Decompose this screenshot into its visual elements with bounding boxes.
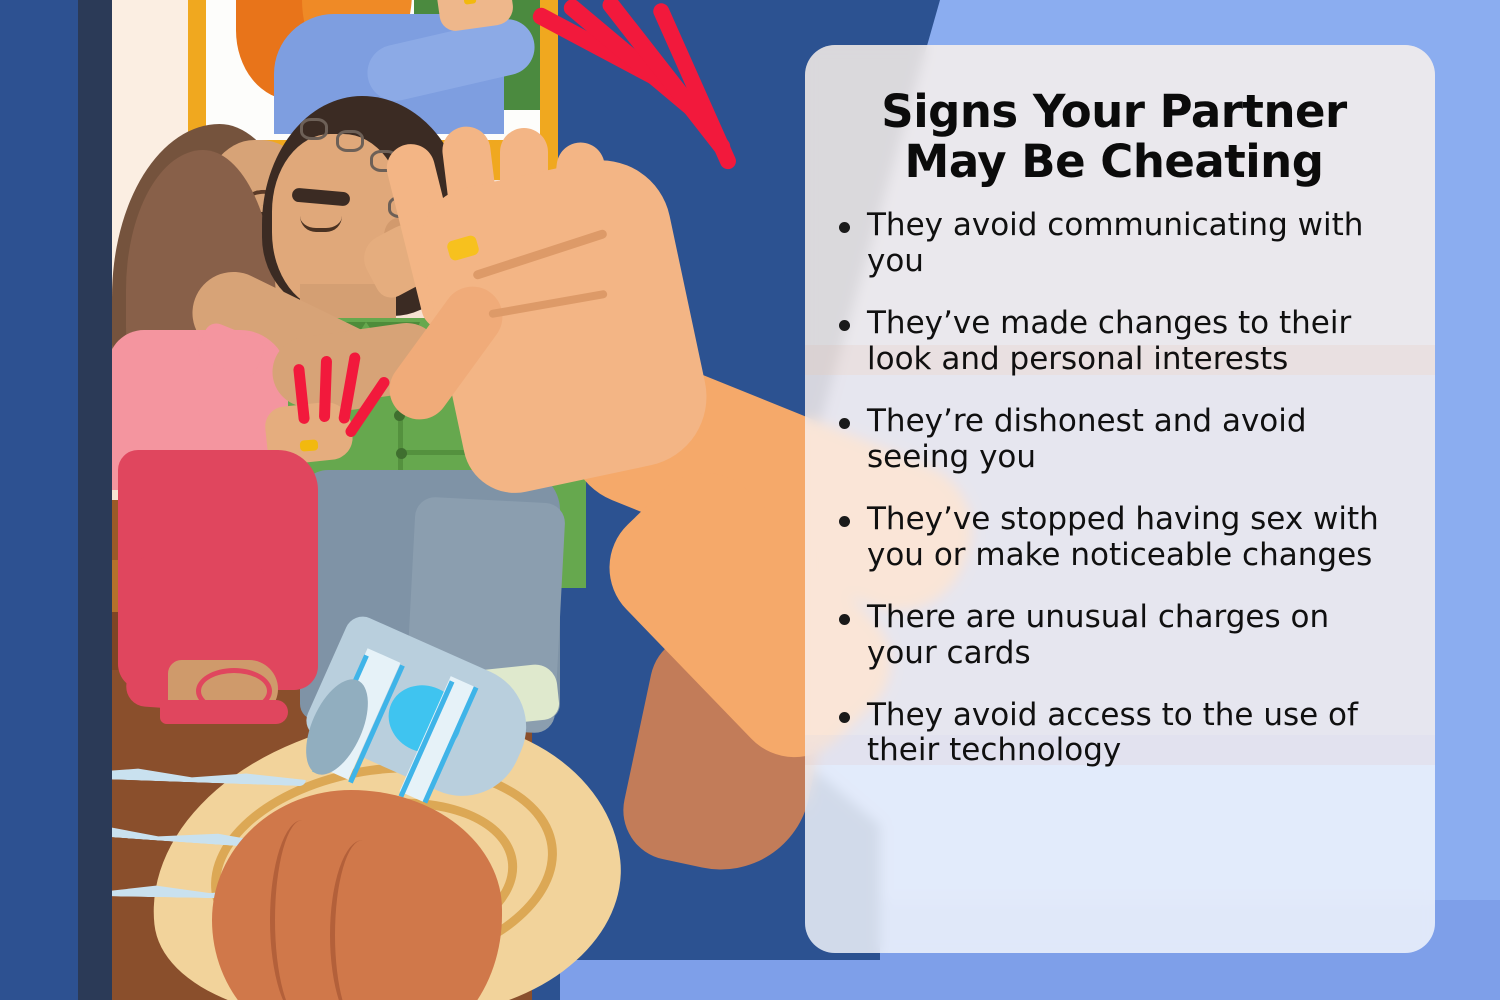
hair-curl-icon [300, 118, 328, 140]
anger-mark-small [319, 356, 332, 422]
list-item-text: They avoid communicating with you [867, 207, 1363, 279]
left-blue-band [0, 0, 82, 1000]
hair-curl-icon [336, 130, 364, 152]
bullet-dot-icon [839, 712, 850, 723]
list-item: They avoid access to the use of their te… [829, 698, 1399, 770]
bullet-dot-icon [839, 222, 850, 233]
signs-list: They avoid communicating with you They’v… [829, 208, 1399, 769]
list-item: There are unusual charges on your cards [829, 600, 1399, 672]
text-panel: Signs Your Partner May Be Cheating They … [805, 45, 1435, 953]
woman-sandal [160, 700, 288, 724]
bullet-dot-icon [839, 516, 850, 527]
bullet-dot-icon [839, 320, 850, 331]
list-item-text: They’re dishonest and avoid seeing you [867, 403, 1307, 475]
list-item-text: They’ve made changes to their look and p… [867, 305, 1351, 377]
list-item: They’ve made changes to their look and p… [829, 306, 1399, 378]
list-item-text: There are unusual charges on your cards [867, 599, 1329, 671]
wedding-ring [300, 439, 319, 451]
infographic-canvas: Signs Your Partner May Be Cheating They … [0, 0, 1500, 1000]
list-item: They’ve stopped having sex with you or m… [829, 502, 1399, 574]
list-item-text: They avoid access to the use of their te… [867, 697, 1358, 769]
list-item-text: They’ve stopped having sex with you or m… [867, 501, 1379, 573]
bullet-dot-icon [839, 614, 850, 625]
doorway-dark-stripe [78, 0, 112, 1000]
list-item: They avoid communicating with you [829, 208, 1399, 280]
list-item: They’re dishonest and avoid seeing you [829, 404, 1399, 476]
bullet-dot-icon [839, 418, 850, 429]
page-title: Signs Your Partner May Be Cheating [829, 87, 1399, 186]
shirt-button [396, 448, 407, 459]
